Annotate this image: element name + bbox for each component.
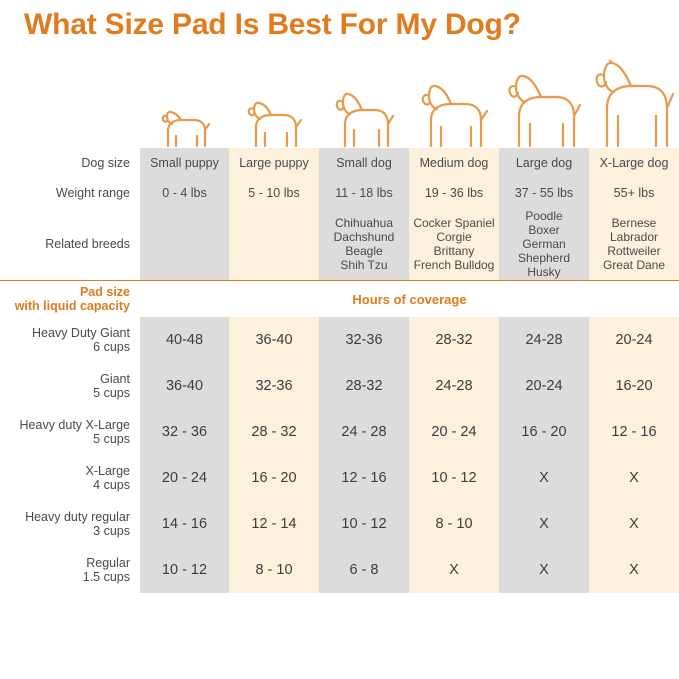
cell-5-4: X — [499, 547, 589, 593]
table-row: Heavy duty X-Large 5 cups 32 - 36 28 - 3… — [0, 409, 679, 455]
cell-3-2: 12 - 16 — [319, 455, 409, 501]
spacer-cell — [0, 60, 140, 148]
cell-2-0: 32 - 36 — [140, 409, 229, 455]
size-chart-table: Dog size Small puppy Large puppy Small d… — [0, 60, 679, 593]
cell-3-3: 10 - 12 — [409, 455, 499, 501]
pad-name-5: Regular — [0, 556, 130, 570]
cell-1-1: 32-36 — [229, 363, 319, 409]
pad-cups-3: 4 cups — [0, 478, 130, 492]
cell-3-1: 16 - 20 — [229, 455, 319, 501]
weight-2: 11 - 18 lbs — [319, 178, 409, 208]
row-label-pad-size: Pad size with liquid capacity — [0, 281, 140, 318]
table-row: Heavy duty regular 3 cups 14 - 16 12 - 1… — [0, 501, 679, 547]
cell-1-2: 28-32 — [319, 363, 409, 409]
cell-0-1: 36-40 — [229, 317, 319, 363]
breeds-5: Bernese Labrador Rottweiler Great Dane — [589, 208, 679, 281]
cell-1-0: 36-40 — [140, 363, 229, 409]
pad-size-line1: Pad size — [80, 285, 130, 299]
cell-1-4: 20-24 — [499, 363, 589, 409]
cell-4-4: X — [499, 501, 589, 547]
dog-silhouette-chihuahua-icon — [319, 60, 409, 148]
row-dog-size: Dog size Small puppy Large puppy Small d… — [0, 148, 679, 178]
dog-silhouette-small-icon — [229, 60, 319, 148]
dog-icon-row — [0, 60, 679, 148]
cell-2-3: 20 - 24 — [409, 409, 499, 455]
weight-5: 55+ lbs — [589, 178, 679, 208]
cell-1-3: 24-28 — [409, 363, 499, 409]
row-weight-range: Weight range 0 - 4 lbs 5 - 10 lbs 11 - 1… — [0, 178, 679, 208]
cell-5-2: 6 - 8 — [319, 547, 409, 593]
cell-0-5: 20-24 — [589, 317, 679, 363]
dog-silhouette-medium-icon — [409, 60, 499, 148]
pad-label-0: Heavy Duty Giant 6 cups — [0, 317, 140, 363]
cell-1-5: 16-20 — [589, 363, 679, 409]
dog-silhouette-xlarge-icon — [589, 60, 679, 148]
breeds-3: Cocker Spaniel Corgie Brittany French Bu… — [409, 208, 499, 281]
weight-1: 5 - 10 lbs — [229, 178, 319, 208]
breeds-2: Chihuahua Dachshund Beagle Shih Tzu — [319, 208, 409, 281]
weight-0: 0 - 4 lbs — [140, 178, 229, 208]
cell-5-3: X — [409, 547, 499, 593]
row-related-breeds: Related breeds Chihuahua Dachshund Beagl… — [0, 208, 679, 281]
breeds-1 — [229, 208, 319, 281]
pad-label-1: Giant 5 cups — [0, 363, 140, 409]
breeds-4: Poodle Boxer German Shepherd Husky — [499, 208, 589, 281]
table-row: Heavy Duty Giant 6 cups 40-48 36-40 32-3… — [0, 317, 679, 363]
infographic-page: What Size Pad Is Best For My Dog? — [0, 0, 679, 679]
hours-of-coverage-header: Hours of coverage — [140, 281, 679, 318]
pad-cups-2: 5 cups — [0, 432, 130, 446]
row-label-dog-size: Dog size — [0, 148, 140, 178]
cell-0-0: 40-48 — [140, 317, 229, 363]
pad-name-0: Heavy Duty Giant — [0, 326, 130, 340]
table-row: X-Large 4 cups 20 - 24 16 - 20 12 - 16 1… — [0, 455, 679, 501]
pad-cups-5: 1.5 cups — [0, 570, 130, 584]
cell-5-5: X — [589, 547, 679, 593]
pad-label-2: Heavy duty X-Large 5 cups — [0, 409, 140, 455]
pad-size-line2: with liquid capacity — [15, 299, 130, 313]
dog-size-5: X-Large dog — [589, 148, 679, 178]
pad-cups-4: 3 cups — [0, 524, 130, 538]
dog-size-1: Large puppy — [229, 148, 319, 178]
cell-5-0: 10 - 12 — [140, 547, 229, 593]
pad-name-2: Heavy duty X-Large — [0, 418, 130, 432]
cell-2-5: 12 - 16 — [589, 409, 679, 455]
dog-silhouette-xsmall-icon — [140, 60, 229, 148]
cell-2-4: 16 - 20 — [499, 409, 589, 455]
cell-4-0: 14 - 16 — [140, 501, 229, 547]
dog-size-2: Small dog — [319, 148, 409, 178]
table-row: Giant 5 cups 36-40 32-36 28-32 24-28 20-… — [0, 363, 679, 409]
dog-size-4: Large dog — [499, 148, 589, 178]
table-row: Regular 1.5 cups 10 - 12 8 - 10 6 - 8 X … — [0, 547, 679, 593]
row-label-related-breeds: Related breeds — [0, 208, 140, 281]
cell-2-1: 28 - 32 — [229, 409, 319, 455]
pad-name-4: Heavy duty regular — [0, 510, 130, 524]
dog-size-3: Medium dog — [409, 148, 499, 178]
size-chart: Dog size Small puppy Large puppy Small d… — [0, 60, 679, 593]
cell-3-5: X — [589, 455, 679, 501]
cell-4-5: X — [589, 501, 679, 547]
row-label-weight-range: Weight range — [0, 178, 140, 208]
page-title: What Size Pad Is Best For My Dog? — [24, 8, 521, 42]
cell-4-3: 8 - 10 — [409, 501, 499, 547]
pad-label-5: Regular 1.5 cups — [0, 547, 140, 593]
cell-3-4: X — [499, 455, 589, 501]
cell-0-2: 32-36 — [319, 317, 409, 363]
pad-name-3: X-Large — [0, 464, 130, 478]
pad-label-3: X-Large 4 cups — [0, 455, 140, 501]
pad-name-1: Giant — [0, 372, 130, 386]
pad-label-4: Heavy duty regular 3 cups — [0, 501, 140, 547]
dog-size-0: Small puppy — [140, 148, 229, 178]
cell-5-1: 8 - 10 — [229, 547, 319, 593]
cell-4-1: 12 - 14 — [229, 501, 319, 547]
row-hours-header: Pad size with liquid capacity Hours of c… — [0, 281, 679, 318]
weight-4: 37 - 55 lbs — [499, 178, 589, 208]
cell-4-2: 10 - 12 — [319, 501, 409, 547]
cell-0-3: 28-32 — [409, 317, 499, 363]
weight-3: 19 - 36 lbs — [409, 178, 499, 208]
pad-cups-0: 6 cups — [0, 340, 130, 354]
cell-2-2: 24 - 28 — [319, 409, 409, 455]
dog-silhouette-large-icon — [499, 60, 589, 148]
cell-0-4: 24-28 — [499, 317, 589, 363]
breeds-0 — [140, 208, 229, 281]
cell-3-0: 20 - 24 — [140, 455, 229, 501]
pad-cups-1: 5 cups — [0, 386, 130, 400]
